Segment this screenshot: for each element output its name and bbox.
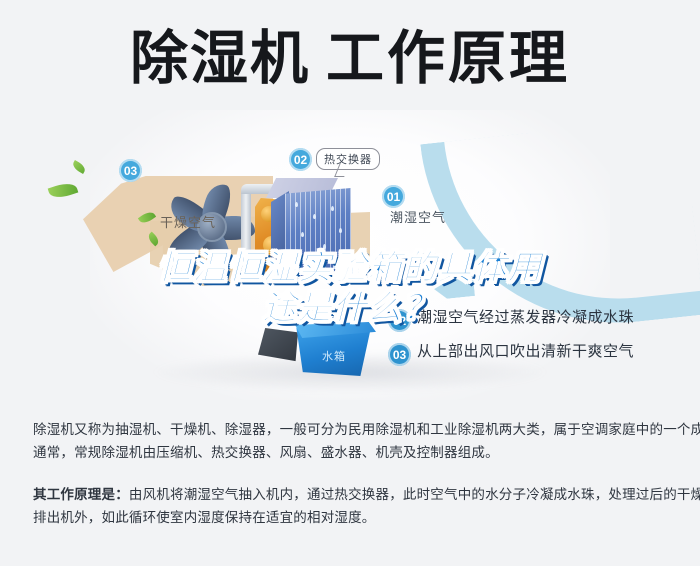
leaf-icon [71, 160, 87, 174]
page-title: 除湿机工作原理 [0, 28, 700, 90]
paragraph-spacer [33, 464, 669, 483]
step-badge-03-list: 03 [388, 343, 411, 366]
paragraph-1-line-2: 通常，常规除湿机由压缩机、热交换器、风扇、盛水器、机壳及控制器组成。 [33, 441, 669, 464]
leaf-icon [48, 180, 79, 201]
step-badge-02: 02 [289, 148, 312, 171]
overlay-headline: 恒温恒湿实验箱的具体用 途是什么？ [0, 248, 700, 328]
water-tank-illustration: 水箱 [284, 322, 376, 380]
paragraph-1-line-1: 除湿机又称为抽湿机、干燥机、除湿器，一般可分为民用除湿机和工业除湿机两大类，属于… [33, 418, 669, 441]
paragraph-2-line-1-rest: 由风机将潮湿空气抽入机内，通过热交换器，此时空气中的水分子冷凝成水珠，处理过后的… [129, 487, 700, 502]
step-badge-01: 01 [382, 185, 405, 208]
paragraph-1: 除湿机又称为抽湿机、干燥机、除湿器，一般可分为民用除湿机和工业除湿机两大类，属于… [33, 418, 669, 464]
humid-air-label: 潮湿空气 [390, 207, 446, 226]
paragraph-2-line-2: 排出机外，如此循环使室内湿度保持在适宜的相对湿度。 [33, 506, 669, 529]
paragraph-2: 其工作原理是：由风机将潮湿空气抽入机内，通过热交换器，此时空气中的水分子冷凝成水… [33, 483, 669, 529]
step-badge-03: 03 [119, 159, 142, 182]
water-tank-label: 水箱 [322, 348, 346, 364]
overlay-headline-line1: 恒温恒湿实验箱的具体用 [158, 249, 543, 287]
page-title-part-b: 工作原理 [326, 26, 570, 91]
step-03-description: 从上部出风口吹出清新干爽空气 [417, 340, 634, 361]
page-title-part-a: 除湿机 [130, 26, 310, 91]
dry-air-label: 干燥空气 [160, 212, 216, 231]
paragraph-2-line-1: 其工作原理是：由风机将潮湿空气抽入机内，通过热交换器，此时空气中的水分子冷凝成水… [33, 483, 669, 506]
page-root: 除湿机工作原理 [0, 0, 700, 566]
paragraph-2-lead: 其工作原理是： [33, 487, 129, 502]
overlay-headline-line2: 途是什么？ [0, 288, 700, 328]
infographic-panel: 除湿机工作原理 [0, 0, 700, 400]
article-body: 除湿机又称为抽湿机、干燥机、除湿器，一般可分为民用除湿机和工业除湿机两大类，属于… [33, 418, 669, 529]
